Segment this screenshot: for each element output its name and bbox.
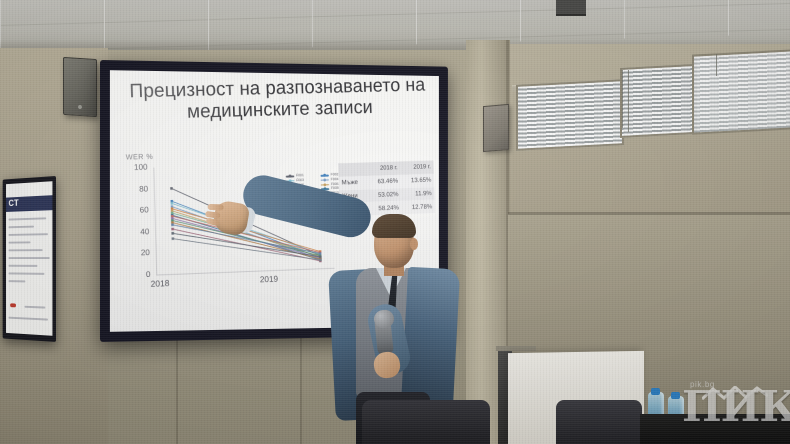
- screenshot-root: СТ Прецизност на разпознаването на медиц…: [0, 0, 790, 444]
- table-col-2019: 2019 г.: [400, 160, 434, 174]
- legend-swatch: [321, 179, 329, 181]
- legend-swatch: [321, 184, 329, 186]
- monitor-doc-title: СТ: [8, 198, 19, 208]
- wall-speaker-right: [483, 104, 509, 152]
- monitor-text-line: [8, 272, 44, 274]
- monitor-text-line: [8, 257, 49, 259]
- flipchart-top-rail: [496, 346, 536, 351]
- monitor-screen: СТ: [6, 181, 52, 336]
- window-right: [692, 49, 790, 134]
- bottle-cap: [651, 388, 660, 395]
- window-middle: [620, 64, 694, 138]
- monitor-text-line: [8, 241, 30, 243]
- chart-y-axis-label: WER %: [126, 152, 154, 162]
- window-blinds[interactable]: [694, 51, 790, 132]
- side-monitor[interactable]: СТ: [3, 176, 56, 342]
- foreground-chair-left: [362, 400, 490, 444]
- legend-swatch: [320, 175, 328, 177]
- wall-speaker-left: [63, 57, 97, 117]
- table-cell-2018: 63.46%: [367, 175, 401, 189]
- monitor-bullet-marker: [10, 303, 16, 307]
- table-col-2018: 2018 г.: [367, 161, 401, 175]
- presenter-ear: [410, 238, 418, 250]
- blind-cord[interactable]: [628, 70, 629, 132]
- slide-title: Прецизност на разпознаването на медицинс…: [126, 74, 430, 124]
- blind-cord[interactable]: [716, 54, 717, 76]
- monitor-text-line: [8, 233, 47, 236]
- legend-swatch: [286, 175, 295, 177]
- monitor-text-line: [8, 249, 42, 251]
- wall-band-line: [508, 212, 790, 215]
- presenter-hair: [372, 214, 416, 238]
- foreground-chair-right: [556, 400, 642, 444]
- table-col-blank: [338, 162, 367, 176]
- window-blinds[interactable]: [622, 66, 692, 136]
- monitor-text-line: [8, 265, 37, 267]
- speaker-led: [78, 105, 82, 109]
- ceiling-light-fixture: [556, 0, 586, 16]
- table-cell-label: Мъже: [339, 176, 368, 190]
- monitor-text-line: [24, 306, 45, 309]
- monitor-text-line: [8, 280, 25, 282]
- monitor-text-line: [8, 226, 33, 229]
- watermark-logo: ПИК: [682, 386, 790, 428]
- monitor-text-line: [8, 217, 46, 220]
- watermark: pik.bg ПИК: [676, 378, 790, 440]
- blind-cord[interactable]: [622, 70, 623, 128]
- window-left: [516, 79, 624, 151]
- table-cell-2019: 13.65%: [401, 174, 435, 188]
- window-blinds[interactable]: [518, 81, 622, 148]
- monitor-text-line: [8, 317, 47, 321]
- presenter-finger: [208, 204, 224, 211]
